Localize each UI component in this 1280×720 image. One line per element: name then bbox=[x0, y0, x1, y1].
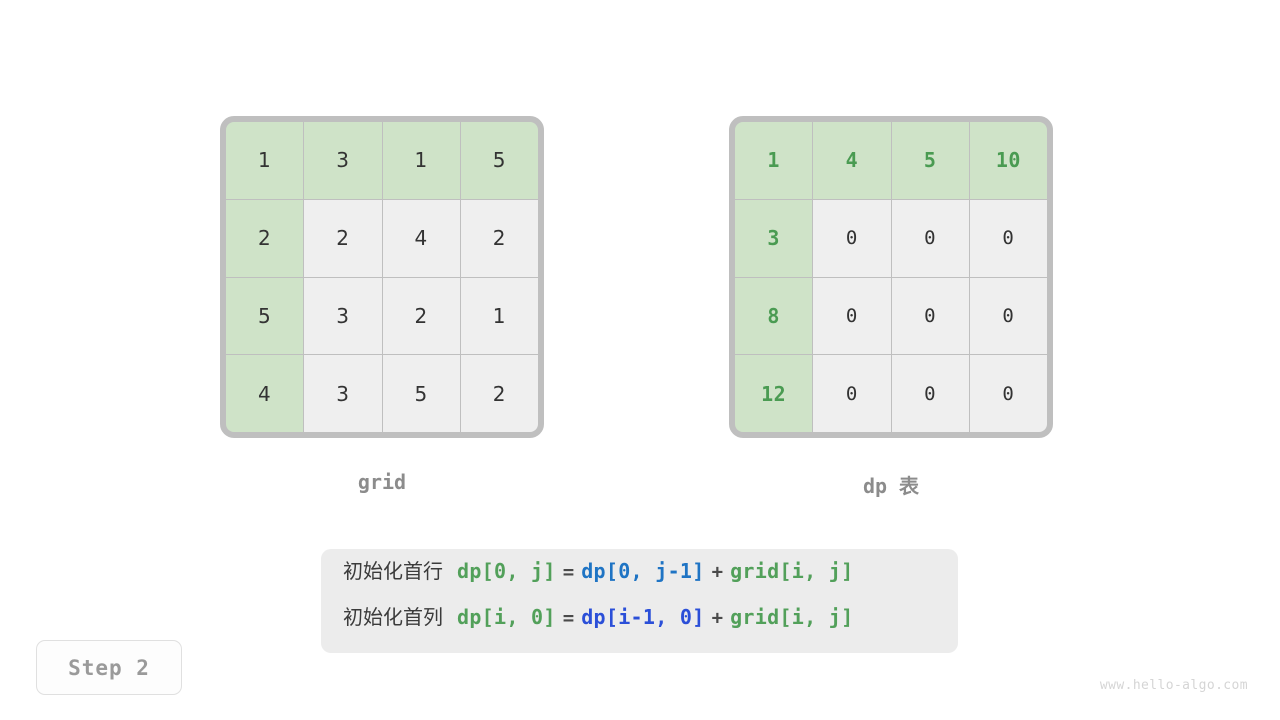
grid-cell: 2 bbox=[461, 200, 538, 277]
dp-cell: 0 bbox=[892, 200, 969, 277]
grid-cell: 3 bbox=[304, 122, 381, 199]
grid-cell: 4 bbox=[226, 355, 303, 432]
dp-cell: 5 bbox=[892, 122, 969, 199]
dp-table-caption: dp 表 bbox=[729, 470, 1053, 499]
formula-rhs-grid-first-column: grid[i, j] bbox=[730, 605, 853, 629]
formula-label-first-column: 初始化首列 bbox=[343, 601, 443, 630]
formula-rhs-dp-first-row: dp[0, j-1] bbox=[581, 559, 704, 583]
grid-cell: 5 bbox=[461, 122, 538, 199]
step-badge: Step 2 bbox=[36, 640, 182, 695]
dp-matrix: 145103000800012000 bbox=[729, 116, 1053, 438]
dp-cell: 0 bbox=[892, 278, 969, 355]
grid-cell: 1 bbox=[226, 122, 303, 199]
formula-row-first-column: 初始化首列 dp[i, 0] = dp[i-1, 0] + grid[i, j] bbox=[343, 601, 958, 647]
grid-cell: 1 bbox=[383, 122, 460, 199]
formula-equals-first-column: = bbox=[563, 607, 574, 629]
formula-label-first-row: 初始化首行 bbox=[343, 555, 443, 584]
grid-cell: 5 bbox=[383, 355, 460, 432]
grid-cell: 2 bbox=[226, 200, 303, 277]
grid-matrix: 1315224253214352 bbox=[220, 116, 544, 438]
grid-cell: 2 bbox=[304, 200, 381, 277]
dp-cell: 0 bbox=[970, 278, 1047, 355]
watermark: www.hello-algo.com bbox=[1100, 678, 1248, 693]
dp-cell: 12 bbox=[735, 355, 812, 432]
dp-cell: 0 bbox=[813, 278, 890, 355]
formula-lhs-first-row: dp[0, j] bbox=[457, 559, 556, 583]
dp-cell: 10 bbox=[970, 122, 1047, 199]
formula-equals-first-row: = bbox=[563, 561, 574, 583]
grid-caption: grid bbox=[220, 470, 544, 494]
grid-cell: 1 bbox=[461, 278, 538, 355]
dp-cell: 1 bbox=[735, 122, 812, 199]
grid-cell: 2 bbox=[383, 278, 460, 355]
formula-plus-first-column: + bbox=[712, 607, 723, 629]
grid-cell: 3 bbox=[304, 278, 381, 355]
dp-cell: 0 bbox=[813, 200, 890, 277]
dp-cell: 0 bbox=[892, 355, 969, 432]
formula-plus-first-row: + bbox=[712, 561, 723, 583]
grid-cell: 2 bbox=[461, 355, 538, 432]
dp-cell: 0 bbox=[970, 355, 1047, 432]
formula-panel: 初始化首行 dp[0, j] = dp[0, j-1] + grid[i, j]… bbox=[321, 549, 958, 653]
grid-cell: 4 bbox=[383, 200, 460, 277]
dp-cell: 3 bbox=[735, 200, 812, 277]
formula-row-first-row: 初始化首行 dp[0, j] = dp[0, j-1] + grid[i, j] bbox=[343, 555, 958, 601]
grid-cell: 3 bbox=[304, 355, 381, 432]
dp-cell: 0 bbox=[813, 355, 890, 432]
formula-rhs-grid-first-row: grid[i, j] bbox=[730, 559, 853, 583]
formula-lhs-first-column: dp[i, 0] bbox=[457, 605, 556, 629]
dp-cell: 8 bbox=[735, 278, 812, 355]
grid-cell: 5 bbox=[226, 278, 303, 355]
dp-cell: 4 bbox=[813, 122, 890, 199]
dp-cell: 0 bbox=[970, 200, 1047, 277]
formula-rhs-dp-first-column: dp[i-1, 0] bbox=[581, 605, 704, 629]
